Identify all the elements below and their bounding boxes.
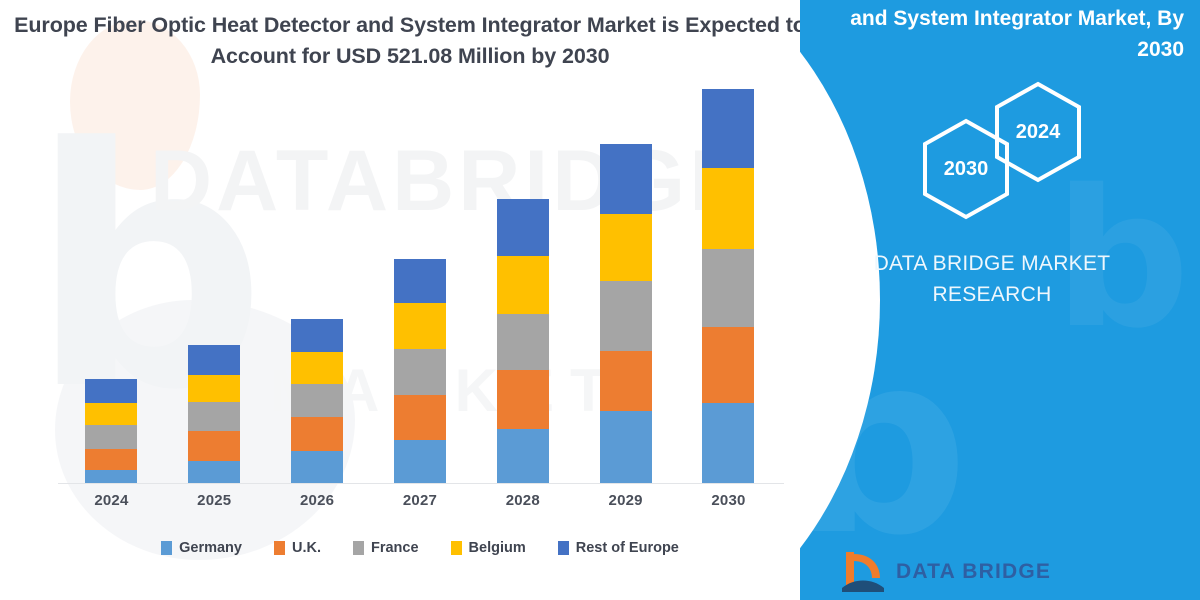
bar-segment	[188, 431, 240, 461]
legend-item-belgium[interactable]: Belgium	[451, 540, 526, 556]
bar-column-2024	[85, 60, 137, 484]
brand-name: DATA BRIDGE MARKET RESEARCH	[800, 248, 1200, 310]
legend-swatch-icon	[353, 541, 364, 555]
bar-column-2030	[702, 60, 754, 484]
x-axis-labels: 2024202520262027202820292030	[60, 492, 780, 509]
hexagon-2024: 2024	[992, 80, 1084, 184]
legend-swatch-icon	[451, 541, 462, 555]
hexagon-group: 2030 2024	[910, 95, 1190, 235]
bar-segment	[394, 303, 446, 349]
bridge-logo-icon	[840, 548, 886, 592]
bar-segment	[291, 451, 343, 484]
bar-segment	[85, 379, 137, 403]
chart-legend: GermanyU.K.FranceBelgiumRest of Europe	[60, 540, 780, 556]
x-axis-label-2026: 2026	[291, 492, 343, 509]
bar-segment	[702, 89, 754, 169]
legend-item-u-k[interactable]: U.K.	[274, 540, 321, 556]
bar-segment	[291, 352, 343, 385]
bar-segment	[291, 417, 343, 452]
bar-segment	[188, 461, 240, 484]
logo-text: DATA BRIDGE	[896, 560, 1051, 592]
legend-label: Belgium	[469, 540, 526, 556]
bar-segment	[497, 314, 549, 369]
bar-segment	[497, 256, 549, 314]
bar-segment	[85, 403, 137, 425]
x-axis-label-2024: 2024	[85, 492, 137, 509]
bar-segment	[394, 440, 446, 484]
brand-line-1: DATA BRIDGE MARKET	[800, 248, 1184, 279]
bar-segment	[702, 327, 754, 403]
bar-segment	[702, 403, 754, 484]
bar-column-2025	[188, 60, 240, 484]
bar-segment	[497, 370, 549, 429]
x-axis-label-2028: 2028	[497, 492, 549, 509]
chart: 2024202520262027202820292030 GermanyU.K.…	[0, 0, 810, 600]
x-axis-label-2027: 2027	[394, 492, 446, 509]
bar-segment	[497, 199, 549, 256]
hexagon-2030-label: 2030	[944, 158, 989, 181]
bar-segment	[394, 259, 446, 303]
bar-column-2026	[291, 60, 343, 484]
bar-column-2028	[497, 60, 549, 484]
bar-column-2027	[394, 60, 446, 484]
hexagon-2024-label: 2024	[1016, 121, 1061, 144]
x-axis-label-2025: 2025	[188, 492, 240, 509]
bar-segment	[600, 281, 652, 351]
bar-segment	[85, 425, 137, 449]
bar-segment	[188, 402, 240, 431]
bar-segment	[600, 411, 652, 484]
bar-column-2029	[600, 60, 652, 484]
legend-label: U.K.	[292, 540, 321, 556]
legend-label: France	[371, 540, 419, 556]
bar-segment	[702, 249, 754, 327]
panel-title: Europe Fiber Optic Heat Detector and Sys…	[844, 0, 1184, 65]
legend-item-france[interactable]: France	[353, 540, 419, 556]
bar-segment	[85, 470, 137, 484]
bar-segment	[600, 214, 652, 281]
x-axis-label-2029: 2029	[600, 492, 652, 509]
bar-segment	[188, 345, 240, 375]
bar-segment	[394, 395, 446, 440]
legend-label: Rest of Europe	[576, 540, 679, 556]
x-axis-line	[58, 483, 784, 484]
legend-swatch-icon	[274, 541, 285, 555]
bar-segment	[394, 349, 446, 394]
bar-segment	[600, 144, 652, 214]
plot-area	[60, 60, 780, 484]
legend-label: Germany	[179, 540, 242, 556]
brand-line-2: RESEARCH	[800, 279, 1184, 310]
legend-item-germany[interactable]: Germany	[161, 540, 242, 556]
bar-segment	[188, 375, 240, 402]
bar-segment	[85, 449, 137, 469]
legend-item-rest-of-europe[interactable]: Rest of Europe	[558, 540, 679, 556]
legend-swatch-icon	[558, 541, 569, 555]
bar-segment	[600, 351, 652, 412]
bar-group	[60, 60, 780, 484]
bar-segment	[702, 168, 754, 248]
infographic-root: b DATABRIDGE MARKET Europe Fiber Optic H…	[0, 0, 1200, 600]
bar-segment	[291, 384, 343, 417]
brand-panel: b b Europe Fiber Optic Heat Detector and…	[800, 0, 1200, 600]
bar-segment	[497, 429, 549, 484]
legend-swatch-icon	[161, 541, 172, 555]
bar-segment	[291, 319, 343, 352]
company-logo: DATA BRIDGE	[840, 548, 1051, 592]
x-axis-label-2030: 2030	[702, 492, 754, 509]
